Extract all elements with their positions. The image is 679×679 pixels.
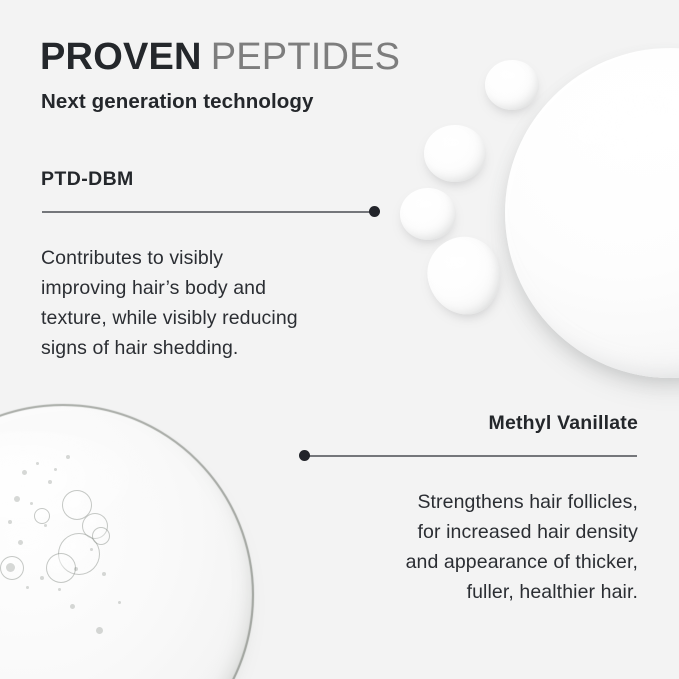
divider-dot-icon [369,206,380,217]
body-line: for increased hair density [290,517,638,547]
ingredient-block-methyl-vanillate: Methyl Vanillate Strengthens hair follic… [290,412,638,607]
page-subtitle: Next generation technology [41,90,314,114]
ingredient-block-ptd-dbm: PTD-DBM Contributes to visibly improving… [41,168,391,363]
body-line: Contributes to visibly [41,243,391,273]
page-title-strong: PROVEN [40,36,202,78]
ingredient-body-methyl-vanillate: Strengthens hair follicles, for increase… [290,487,638,607]
body-line: and appearance of thicker, [290,547,638,577]
body-line: improving hair’s body and [41,273,391,303]
page-title-light: PEPTIDES [211,36,401,78]
page-title: PROVENPEPTIDES [40,38,400,76]
body-line: fuller, healthier hair. [290,577,638,607]
ingredient-body-ptd-dbm: Contributes to visibly improving hair’s … [41,243,391,363]
body-line: Strengthens hair follicles, [290,487,638,517]
divider-line [42,211,374,213]
divider-dot-icon [299,450,310,461]
poster-canvas: PROVENPEPTIDES Next generation technolog… [0,0,679,679]
ingredient-heading-ptd-dbm: PTD-DBM [41,168,391,191]
ingredient-divider-ptd-dbm [41,205,391,219]
body-line: signs of hair shedding. [41,333,391,363]
divider-line [305,455,637,457]
ingredient-heading-methyl-vanillate: Methyl Vanillate [290,412,638,435]
body-line: texture, while visibly reducing [41,303,391,333]
ingredient-divider-methyl-vanillate [290,449,638,463]
content-layer: PROVENPEPTIDES Next generation technolog… [0,0,679,679]
